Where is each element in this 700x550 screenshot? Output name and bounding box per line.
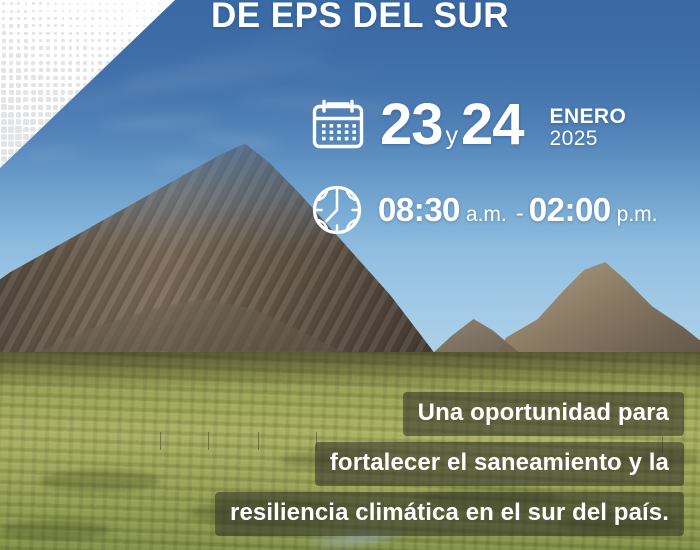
halftone-dot <box>31 97 36 102</box>
halftone-dot <box>8 105 14 111</box>
halftone-dot <box>31 90 36 95</box>
halftone-dot <box>121 47 124 50</box>
halftone-dot <box>1 149 7 155</box>
halftone-dot <box>8 149 14 155</box>
halftone-dot <box>91 39 94 42</box>
halftone-dot <box>53 90 58 95</box>
halftone-dot <box>17 46 21 50</box>
halftone-dot <box>16 83 21 88</box>
halftone-dot <box>16 97 21 102</box>
time-range-dash: - <box>516 200 524 228</box>
halftone-dot <box>106 47 109 50</box>
halftone-dot <box>31 54 35 58</box>
halftone-dot <box>91 61 95 65</box>
halftone-dot <box>68 83 72 87</box>
event-date-values: 23 y 24 <box>380 96 524 154</box>
halftone-dot <box>9 68 14 73</box>
halftone-dot <box>39 39 42 42</box>
time-start: 08:30 <box>378 191 460 229</box>
halftone-dot <box>24 68 28 72</box>
halftone-dot <box>1 61 5 65</box>
halftone-dot <box>24 39 28 43</box>
halftone-dot <box>98 47 101 50</box>
event-time-values: 08:30 a.m. - 02:00 p.m. <box>378 191 662 229</box>
halftone-dot <box>39 61 43 65</box>
halftone-dot <box>38 105 43 110</box>
halftone-dot <box>24 53 28 57</box>
time-end: 02:00 <box>529 191 611 229</box>
halftone-dot <box>9 39 13 43</box>
halftone-dot <box>46 97 51 102</box>
halftone-dot <box>16 90 21 95</box>
halftone-dot <box>17 39 21 43</box>
halftone-dot <box>31 105 36 110</box>
halftone-dot <box>23 119 29 125</box>
halftone-dot <box>9 75 14 80</box>
tagline-line: Una oportunidad para <box>403 392 684 436</box>
halftone-dot <box>83 46 86 49</box>
halftone-dot <box>16 105 21 110</box>
halftone-dot <box>1 119 7 125</box>
halftone-dot <box>76 68 80 72</box>
halftone-dot <box>61 46 64 49</box>
halftone-dot <box>23 127 29 133</box>
halftone-dot <box>38 75 42 79</box>
halftone-dot <box>30 119 36 125</box>
halftone-dot <box>24 46 28 50</box>
halftone-dot <box>31 61 35 65</box>
halftone-dot <box>16 112 22 118</box>
day-first: 23 <box>380 96 443 154</box>
halftone-dot <box>83 54 86 57</box>
halftone-dot <box>76 39 79 42</box>
halftone-dot <box>23 97 28 102</box>
halftone-dot <box>76 76 80 80</box>
halftone-dot <box>76 83 80 87</box>
day-second: 24 <box>461 96 524 154</box>
halftone-dot <box>61 83 65 87</box>
halftone-dot <box>91 54 94 57</box>
halftone-dot <box>84 39 87 42</box>
halftone-dot <box>30 127 36 133</box>
halftone-dot <box>1 156 7 162</box>
halftone-dot <box>54 39 57 42</box>
halftone-dot <box>91 68 95 72</box>
clock-icon <box>310 183 364 237</box>
halftone-dot <box>121 39 124 42</box>
halftone-dot <box>53 83 57 87</box>
halftone-dot <box>8 112 14 118</box>
halftone-dot <box>16 119 22 125</box>
halftone-dot <box>1 104 7 110</box>
halftone-dot <box>15 141 21 147</box>
halftone-dot <box>16 61 20 65</box>
halftone-dot <box>53 97 58 102</box>
halftone-dot <box>24 75 29 80</box>
time-end-meridiem: p.m. <box>617 203 658 227</box>
halftone-dot <box>91 47 94 50</box>
halftone-dot <box>1 90 6 95</box>
halftone-dot <box>24 61 28 65</box>
halftone-dot <box>1 126 7 132</box>
halftone-dot <box>76 54 79 57</box>
halftone-dot <box>38 83 43 88</box>
halftone-dot <box>15 126 21 132</box>
halftone-dot <box>1 68 6 73</box>
halftone-dot <box>16 68 20 72</box>
halftone-dot <box>45 112 50 117</box>
halftone-dot <box>15 134 21 140</box>
halftone-dot <box>61 76 65 80</box>
event-poster: DE EPS DEL SUR <box>0 0 700 550</box>
halftone-dot <box>113 54 116 57</box>
halftone-dot <box>98 54 101 57</box>
halftone-dot <box>106 54 109 57</box>
halftone-dot <box>68 90 73 95</box>
halftone-dot <box>83 61 87 65</box>
halftone-dot <box>68 68 72 72</box>
halftone-dot <box>53 105 58 110</box>
halftone-dot <box>9 53 13 57</box>
halftone-dot <box>31 75 36 80</box>
halftone-dot <box>1 141 7 147</box>
halftone-dot <box>61 61 65 65</box>
halftone-dot <box>54 54 58 58</box>
halftone-dot <box>69 39 72 42</box>
halftone-dot <box>1 112 7 118</box>
tagline-line: fortalecer el saneamiento y la <box>315 442 684 486</box>
halftone-dot <box>8 119 14 125</box>
day-separator: y <box>446 124 459 149</box>
halftone-dot <box>2 46 6 50</box>
tagline-block: Una oportunidad para fortalecer el sanea… <box>0 392 700 542</box>
halftone-dot <box>106 39 109 42</box>
halftone-dot <box>1 75 6 80</box>
halftone-dot <box>1 97 6 102</box>
halftone-dot <box>69 54 73 58</box>
halftone-dot <box>76 46 79 49</box>
halftone-dot <box>68 61 72 65</box>
halftone-dot <box>23 105 28 110</box>
halftone-dot <box>23 134 29 140</box>
halftone-dot <box>8 97 13 102</box>
halftone-dot <box>31 112 37 118</box>
halftone-dot <box>9 46 13 50</box>
event-date-block: 23 y 24 ENERO 2025 <box>310 96 626 154</box>
halftone-dot <box>61 68 65 72</box>
halftone-dot <box>69 46 72 49</box>
halftone-dot <box>46 90 51 95</box>
halftone-dot <box>46 54 50 58</box>
halftone-dot <box>83 76 87 80</box>
halftone-dot <box>61 39 64 42</box>
halftone-dot <box>39 68 43 72</box>
year-label: 2025 <box>550 128 627 150</box>
time-start-meridiem: a.m. <box>466 203 507 227</box>
halftone-dot <box>31 46 35 50</box>
halftone-dot <box>8 126 14 132</box>
tagline-line: resiliencia climática en el sur del país… <box>215 492 684 536</box>
halftone-dot <box>61 54 65 58</box>
grass-shadow-band <box>0 352 700 386</box>
halftone-dot <box>54 46 58 50</box>
halftone-dot <box>39 54 43 58</box>
halftone-dot <box>38 90 43 95</box>
halftone-dot <box>8 141 14 147</box>
halftone-dot <box>16 75 21 80</box>
halftone-dot <box>54 61 58 65</box>
event-time-block: 08:30 a.m. - 02:00 p.m. <box>310 183 662 237</box>
halftone-dot <box>98 39 101 42</box>
halftone-dot <box>9 83 14 88</box>
halftone-dot <box>83 68 87 72</box>
halftone-dot <box>23 83 28 88</box>
halftone-dot <box>61 90 66 95</box>
halftone-dot <box>46 76 50 80</box>
halftone-dot <box>23 112 29 118</box>
halftone-dot <box>46 46 50 50</box>
calendar-icon <box>310 97 366 153</box>
halftone-dot <box>38 112 43 117</box>
halftone-dot <box>98 61 101 64</box>
halftone-dot <box>23 90 28 95</box>
halftone-dot <box>38 97 43 102</box>
halftone-dot <box>38 119 44 125</box>
halftone-dot <box>9 61 13 65</box>
halftone-dot <box>9 90 14 95</box>
halftone-dot <box>128 39 131 42</box>
halftone-dot <box>113 39 116 42</box>
halftone-dot <box>46 68 50 72</box>
halftone-dot <box>53 76 57 80</box>
halftone-dot <box>16 53 20 57</box>
halftone-dot <box>60 97 65 102</box>
halftone-dot <box>8 134 14 140</box>
page-title: DE EPS DEL SUR <box>0 0 700 36</box>
halftone-dot <box>46 61 50 65</box>
halftone-dot <box>2 53 6 57</box>
halftone-dot <box>53 68 57 72</box>
halftone-dot <box>1 83 6 88</box>
halftone-dot <box>31 68 35 72</box>
halftone-dot <box>46 83 51 88</box>
halftone-dot <box>31 83 36 88</box>
halftone-dot <box>46 39 49 42</box>
halftone-dot <box>68 76 72 80</box>
halftone-dot <box>2 39 6 43</box>
month-year-block: ENERO 2025 <box>550 106 627 155</box>
halftone-dot <box>32 39 36 43</box>
halftone-dot <box>76 61 80 65</box>
halftone-dot <box>1 134 7 140</box>
month-label: ENERO <box>550 106 627 128</box>
halftone-dot <box>113 47 116 50</box>
halftone-dot <box>39 46 43 50</box>
halftone-dot <box>46 105 51 110</box>
